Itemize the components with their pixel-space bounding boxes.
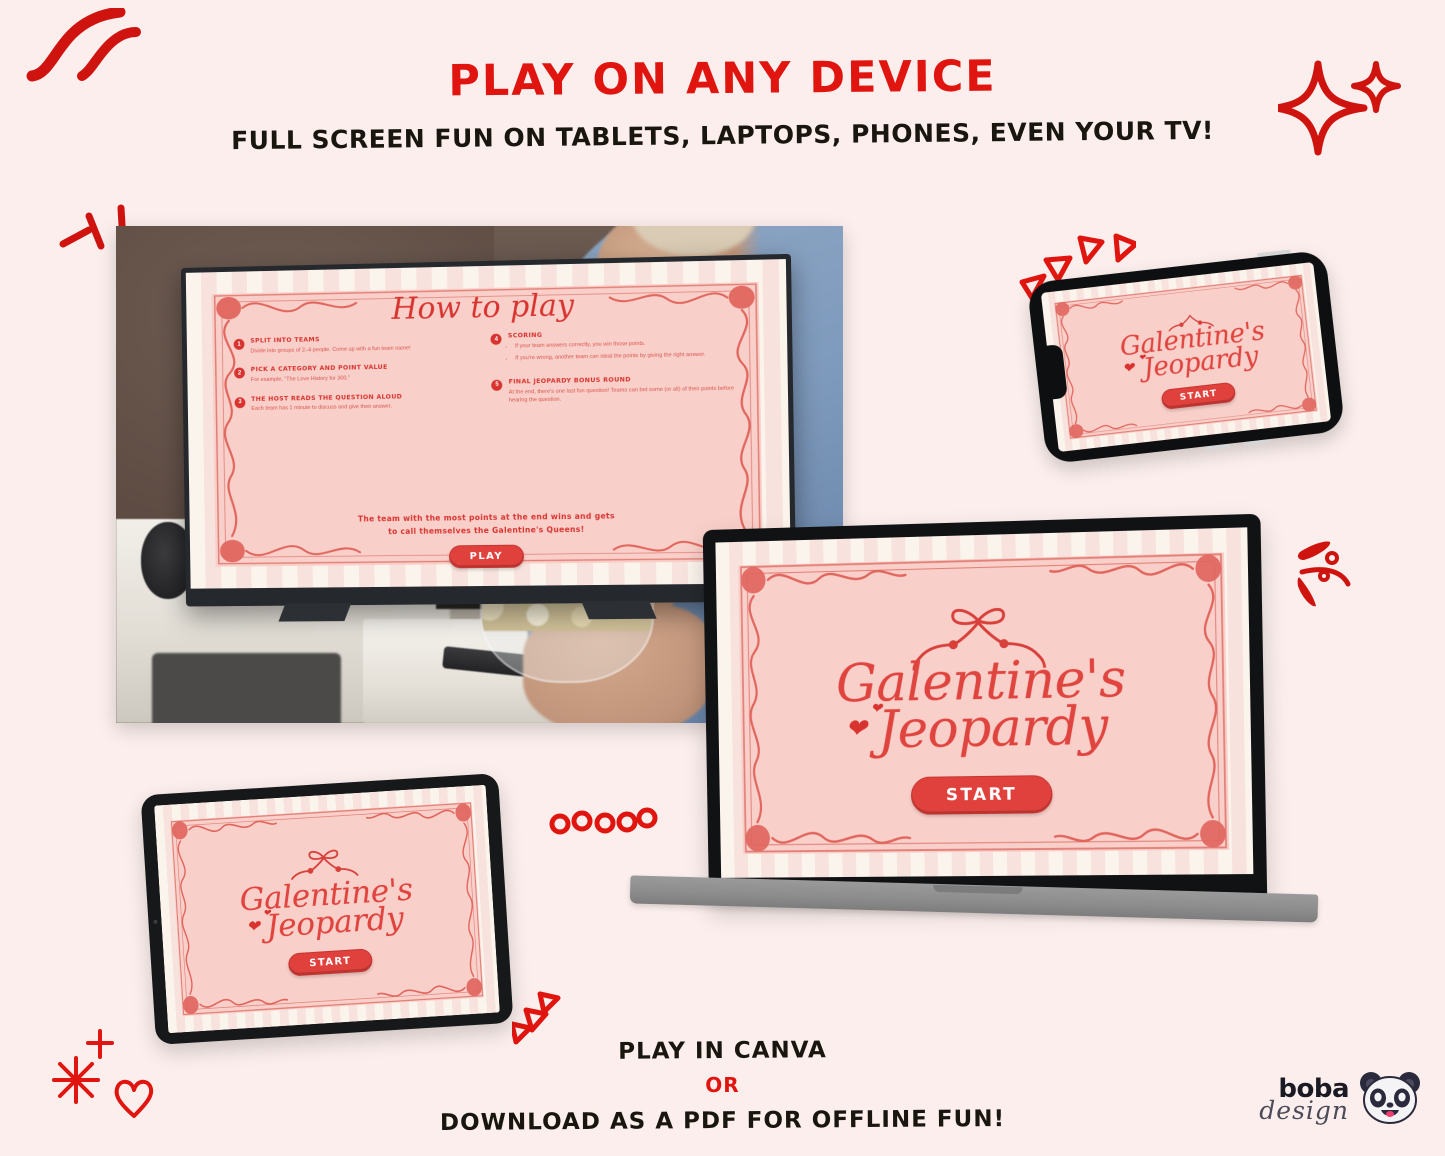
page-subtitle: FULL SCREEN FUN ON TABLETS, LAPTOPS, PHO… (0, 113, 1445, 157)
list-item: 2 PICK A CATEGORY AND POINT VALUE For ex… (234, 362, 475, 385)
list-item: 1 SPLIT INTO TEAMS Divide into groups of… (233, 333, 474, 356)
large-heart-icon: ❤ (246, 919, 260, 935)
small-heart-icon: ❤ (871, 703, 882, 716)
panda-icon (1357, 1070, 1423, 1128)
step-body: For example, “The Love History for 300.” (250, 372, 475, 384)
step-bullet: If you're wrong, another team can steal … (515, 350, 738, 363)
play-button[interactable]: PLAY (448, 544, 524, 568)
slide-title-line2: Jeopardy (254, 904, 415, 942)
slide-title-line2: Jeopardy (859, 704, 1126, 756)
start-button[interactable]: START (288, 948, 373, 976)
slide-title: Galentine's Jeopardy ❤ ❤ (836, 656, 1127, 757)
how-to-play-title: How to play (233, 287, 737, 328)
laptop-title-slide: Galentine's Jeopardy ❤ ❤ START (715, 527, 1253, 878)
large-heart-icon: ❤ (845, 718, 866, 742)
phone-mockup: Galentine's Jeopardy ❤ ❤ START (1027, 250, 1346, 465)
step-number: 4 (490, 333, 501, 344)
list-item: 4 SCORING If your team answers correctly… (490, 328, 737, 368)
step-number: 1 (233, 339, 244, 350)
tablet-camera-icon (153, 920, 157, 924)
step-body: Each team has 1 minute to discuss and gi… (251, 401, 476, 413)
start-button[interactable]: START (911, 775, 1053, 815)
footer-download-pdf: DOWNLOAD AS A PDF FOR OFFLINE FUN! (0, 1103, 1445, 1139)
small-heart-icon: ❤ (263, 909, 271, 918)
brand-tagline: design (1259, 1098, 1349, 1123)
large-heart-icon: ❤ (1122, 362, 1135, 376)
laptop-mockup: Galentine's Jeopardy ❤ ❤ START (622, 522, 1322, 962)
step-number: 5 (491, 379, 502, 390)
step-body: At the end, there's one last fun questio… (508, 384, 738, 405)
tablet-mockup: Galentine's Jeopardy ❤ ❤ START (141, 773, 514, 1045)
tablet-title-slide: Galentine's Jeopardy ❤ ❤ START (154, 785, 500, 1033)
start-button[interactable]: START (1161, 381, 1237, 409)
page-title: PLAY ON ANY DEVICE (0, 48, 1445, 111)
how-to-play-left-column: 1 SPLIT INTO TEAMS Divide into groups of… (233, 333, 477, 513)
slide-title: Galentine's Jeopardy ❤ ❤ (1119, 320, 1269, 384)
step-number: 2 (234, 368, 245, 379)
step-number: 3 (234, 396, 245, 407)
footer-or: OR (0, 1073, 1445, 1097)
poster-canvas: PLAY ON ANY DEVICE FULL SCREEN FUN ON TA… (0, 0, 1445, 1156)
how-to-play-right-column: 4 SCORING If your team answers correctly… (490, 328, 740, 510)
slide-title: Galentine's Jeopardy ❤ ❤ (239, 875, 415, 943)
list-item: 5 FINAL JEOPARDY BONUS ROUND At the end,… (491, 374, 738, 405)
small-heart-icon: ❤ (1138, 354, 1145, 362)
brand-logo: boba design (1259, 1070, 1423, 1128)
phone-title-slide: Galentine's Jeopardy ❤ ❤ START (1041, 262, 1331, 452)
list-item: 3 THE HOST READS THE QUESTION ALOUD Each… (234, 391, 475, 413)
